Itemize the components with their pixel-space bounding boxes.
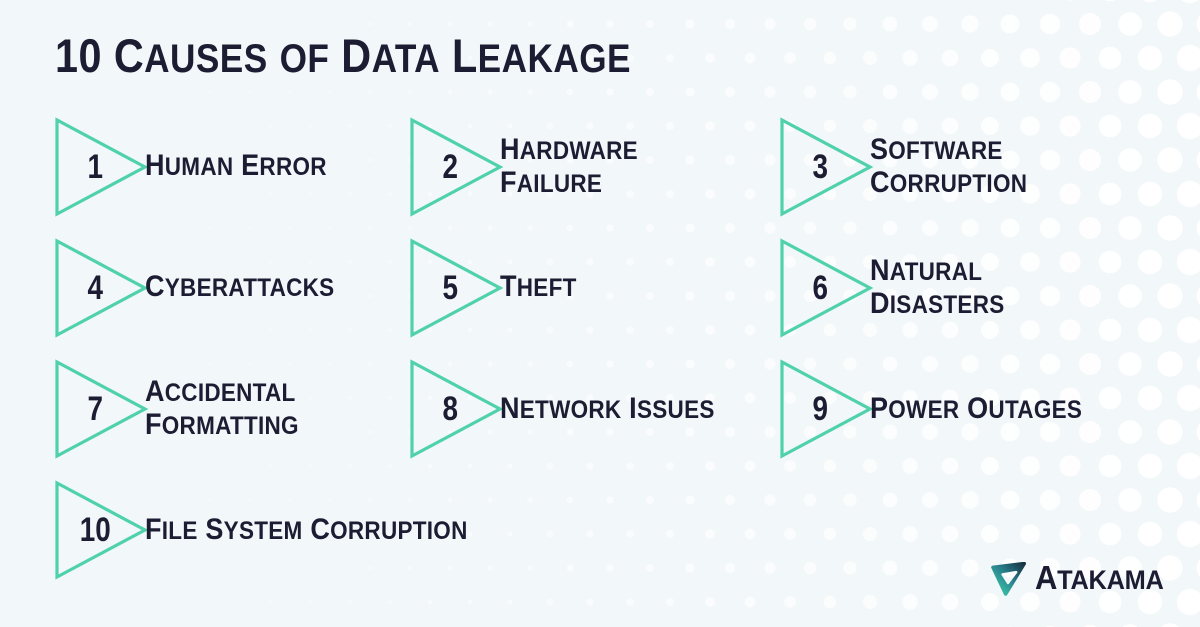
triangle-marker-icon: 2 [410, 118, 502, 216]
cause-number: 2 [418, 150, 493, 184]
triangle-marker-icon: 1 [55, 118, 147, 216]
cause-item-1[interactable]: 1 HUMAN ERROR [55, 106, 410, 227]
triangle-marker-icon: 7 [55, 360, 147, 458]
causes-row: 4 CYBERATTACKS 5 THEFT 6 [55, 227, 1155, 348]
cause-label: NATURALDISASTERS [870, 255, 1005, 321]
cause-item-7[interactable]: 7 ACCIDENTALFORMATTING [55, 348, 410, 470]
cause-label: ACCIDENTALFORMATTING [145, 376, 299, 442]
cause-item-3[interactable]: 3 SOFTWARECORRUPTION [780, 106, 1155, 227]
cause-label: THEFT [500, 271, 577, 304]
triangle-marker-icon: 4 [55, 239, 147, 337]
triangle-marker-icon: 8 [410, 360, 502, 458]
triangle-marker-icon: 10 [55, 481, 147, 579]
cause-number: 7 [63, 392, 138, 426]
cause-label: HARDWAREFAILURE [500, 134, 638, 200]
triangle-marker-icon: 3 [780, 118, 872, 216]
triangle-marker-icon: 9 [780, 360, 872, 458]
page-title-text: 10 CAUSES OF DATA LEAKAGE [55, 29, 631, 82]
cause-number: 8 [418, 392, 493, 426]
cause-item-9[interactable]: 9 POWER OUTAGES [780, 348, 1155, 470]
cause-label: POWER OUTAGES [870, 393, 1082, 426]
cause-item-6[interactable]: 6 NATURALDISASTERS [780, 227, 1155, 348]
triangle-marker-icon: 6 [780, 239, 872, 337]
cause-item-8[interactable]: 8 NETWORK ISSUES [410, 348, 780, 470]
causes-row: 7 ACCIDENTALFORMATTING 8 NETWORK ISSUES [55, 348, 1155, 470]
cause-item-4[interactable]: 4 CYBERATTACKS [55, 227, 410, 348]
causes-row: 1 HUMAN ERROR 2 HARDWAREFAILURE [55, 106, 1155, 227]
atakama-triangle-icon [990, 562, 1028, 596]
cause-number: 4 [63, 271, 138, 305]
page-title: 10 CAUSES OF DATA LEAKAGE [55, 28, 631, 87]
causes-grid: 1 HUMAN ERROR 2 HARDWAREFAILURE [55, 106, 1155, 590]
cause-label: NETWORK ISSUES [500, 393, 715, 426]
atakama-logo[interactable]: ATAKAMA [990, 561, 1172, 597]
atakama-wordmark: ATAKAMA [1035, 561, 1164, 597]
cause-number: 9 [788, 392, 863, 426]
cause-number: 6 [788, 271, 863, 305]
cause-item-5[interactable]: 5 THEFT [410, 227, 780, 348]
cause-label: CYBERATTACKS [145, 271, 334, 304]
triangle-marker-icon: 5 [410, 239, 502, 337]
cause-label: HUMAN ERROR [145, 150, 327, 183]
cause-number: 1 [63, 150, 138, 184]
cause-item-2[interactable]: 2 HARDWAREFAILURE [410, 106, 780, 227]
cause-number: 3 [788, 150, 863, 184]
cause-label: SOFTWARECORRUPTION [870, 134, 1027, 200]
cause-number: 5 [418, 271, 493, 305]
infographic-canvas: 10 CAUSES OF DATA LEAKAGE 1 HUMAN ERROR [0, 0, 1200, 627]
cause-label: FILE SYSTEM CORRUPTION [145, 514, 468, 547]
cause-number: 10 [63, 513, 138, 547]
